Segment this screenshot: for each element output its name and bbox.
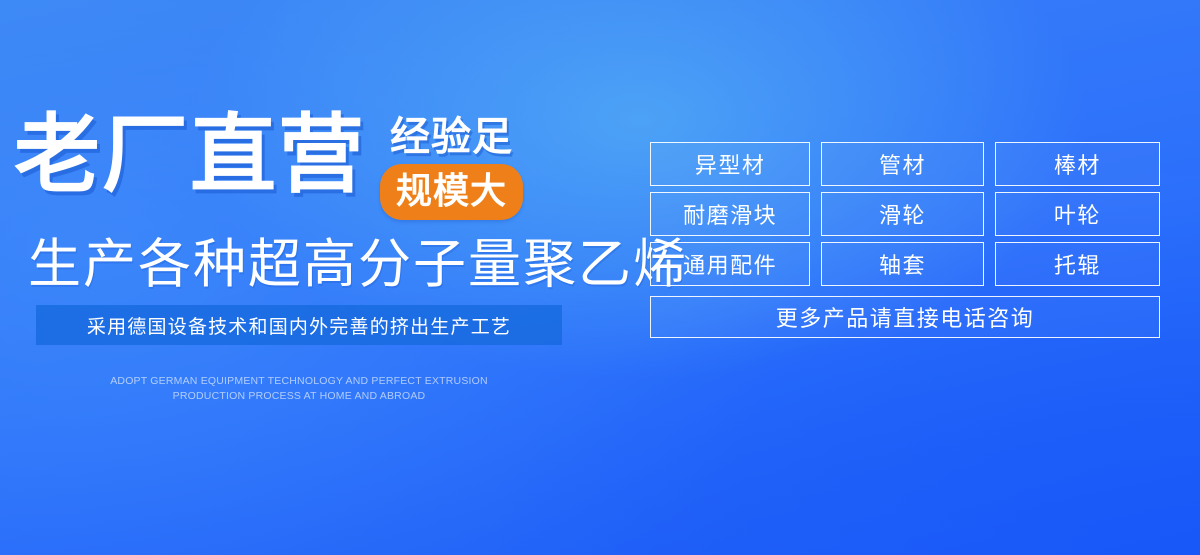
product-cell-idler-roller[interactable]: 托辊: [995, 242, 1160, 286]
product-cell-rod[interactable]: 棒材: [995, 142, 1160, 186]
english-caption-line-2: PRODUCTION PROCESS AT HOME AND ABROAD: [36, 389, 562, 404]
product-cell-bushing[interactable]: 轴套: [821, 242, 983, 286]
tagline-ribbon-text: 采用德国设备技术和国内外完善的挤出生产工艺: [87, 312, 511, 339]
tagline-ribbon: 采用德国设备技术和国内外完善的挤出生产工艺: [36, 305, 562, 345]
product-category-grid: 异型材 管材 棒材 耐磨滑块 滑轮 叶轮 通用配件: [650, 142, 1160, 338]
english-caption: ADOPT GERMAN EQUIPMENT TECHNOLOGY AND PE…: [36, 374, 562, 404]
more-products-cta-label: 更多产品请直接电话咨询: [776, 301, 1035, 333]
product-cell-label: 管材: [879, 148, 926, 180]
product-cell-label: 异型材: [695, 148, 766, 180]
product-cell-wear-slider[interactable]: 耐磨滑块: [650, 192, 810, 236]
product-grid-row: 异型材 管材 棒材: [650, 142, 1160, 186]
promo-banner: 老厂直营 经验足 规模大 生产各种超高分子量聚乙烯 采用德国设备技术和国内外完善…: [0, 0, 1200, 555]
headline-badge-stack: 经验足 规模大: [380, 116, 523, 220]
product-cell-impeller[interactable]: 叶轮: [995, 192, 1160, 236]
product-cell-label: 棒材: [1054, 148, 1101, 180]
product-grid-row: 耐磨滑块 滑轮 叶轮: [650, 192, 1160, 236]
product-cell-label: 轴套: [879, 248, 926, 280]
product-cell-pipe[interactable]: 管材: [821, 142, 983, 186]
headline-subtitle: 生产各种超高分子量聚乙烯: [28, 236, 688, 293]
badge-scale-pill: 规模大: [380, 164, 523, 220]
more-products-cta[interactable]: 更多产品请直接电话咨询: [650, 296, 1160, 338]
product-cell-label: 叶轮: [1054, 198, 1101, 230]
headline-row: 老厂直营 经验足 规模大: [14, 112, 523, 220]
product-cell-profile[interactable]: 异型材: [650, 142, 810, 186]
product-cell-label: 托辊: [1054, 248, 1101, 280]
badge-experience-text: 经验足: [390, 116, 513, 158]
product-cell-label: 耐磨滑块: [683, 198, 777, 230]
product-cell-general-parts[interactable]: 通用配件: [650, 242, 810, 286]
headline-main-title: 老厂直营: [14, 112, 366, 198]
product-cell-pulley[interactable]: 滑轮: [821, 192, 983, 236]
english-caption-line-1: ADOPT GERMAN EQUIPMENT TECHNOLOGY AND PE…: [36, 374, 562, 389]
product-cell-label: 通用配件: [683, 248, 777, 280]
product-cell-label: 滑轮: [879, 198, 926, 230]
product-grid-row: 通用配件 轴套 托辊: [650, 242, 1160, 286]
